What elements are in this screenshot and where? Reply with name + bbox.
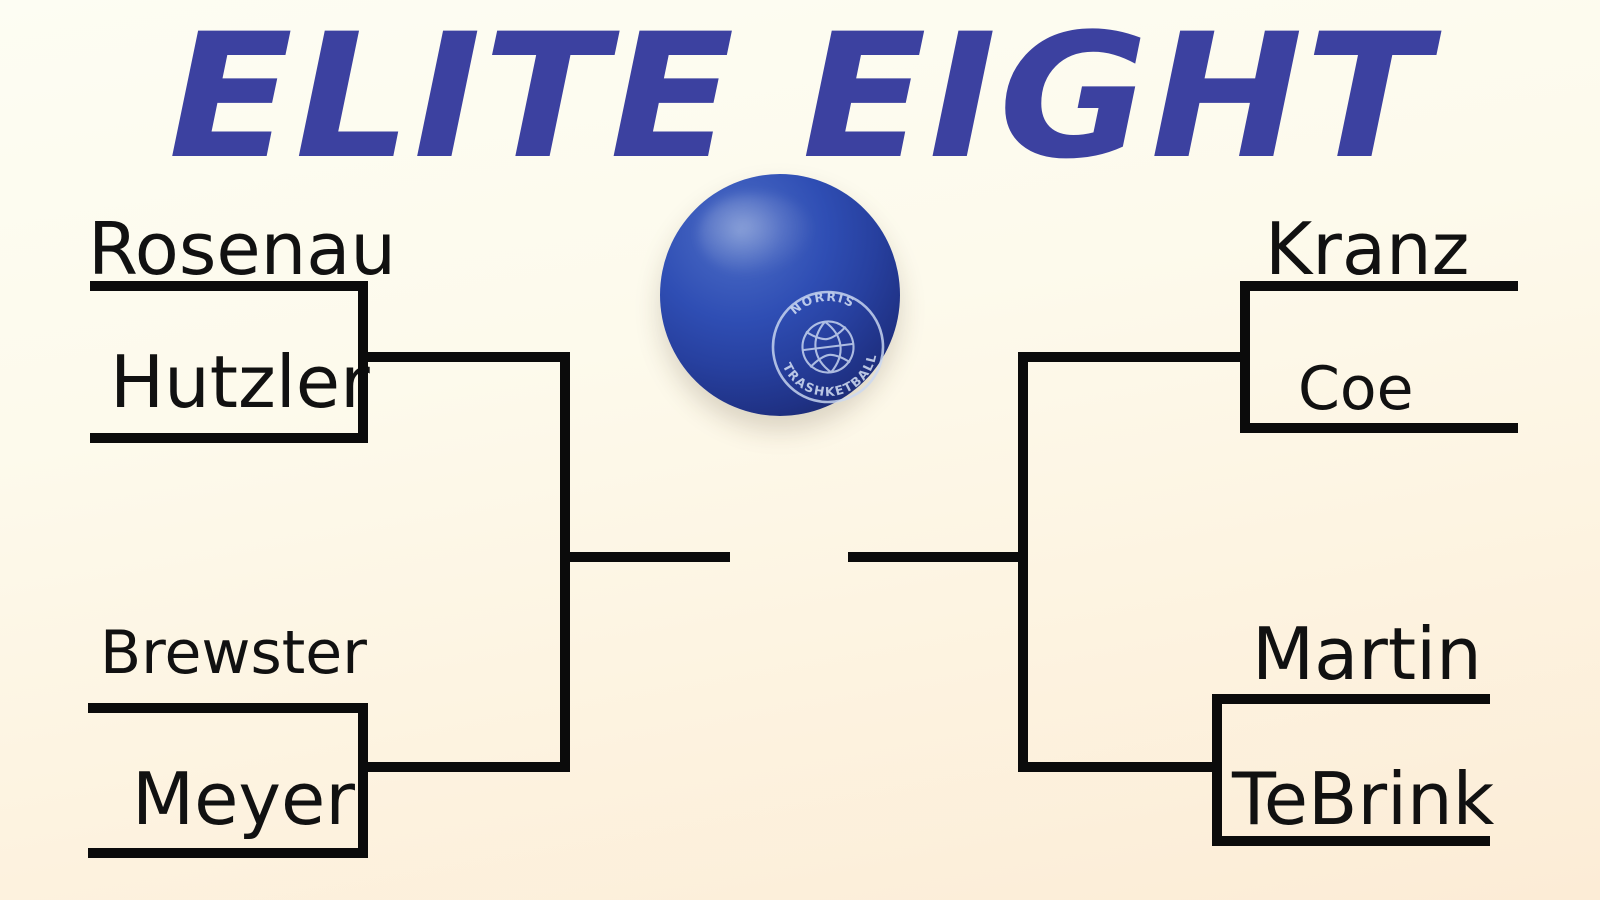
logo-top-text: NORRIS [785, 285, 859, 318]
player-slot-meyer[interactable]: Meyer [132, 762, 355, 836]
bracket-line-right-final-stub [848, 552, 1028, 562]
basketball-graphic: NORRIS TRASHKETBALL [660, 174, 900, 416]
bracket-line-left-m2-top [88, 703, 368, 713]
bracket-line-right-m2-top [1212, 694, 1490, 704]
page-title: ELITE EIGHT [0, 8, 1600, 186]
player-slot-rosenau[interactable]: Rosenau [88, 212, 396, 286]
bracket-line-left-m1-top [90, 281, 368, 291]
bracket-line-left-m2-right [358, 703, 368, 858]
logo-bottom-text: TRASHKETBALL [779, 349, 884, 404]
norris-trashketball-logo: NORRIS TRASHKETBALL [754, 273, 901, 420]
bracket-line-right-semi-bottom [1018, 762, 1218, 772]
bracket-line-right-m2-bottom [1212, 836, 1490, 846]
bracket-line-right-m1-top [1240, 281, 1518, 291]
basketball-icon [800, 319, 857, 376]
bracket-line-left-m2-bottom [88, 848, 368, 858]
player-slot-coe[interactable]: Coe [1298, 358, 1414, 420]
player-slot-hutzler[interactable]: Hutzler [110, 345, 370, 419]
bracket-poster: ELITE EIGHT [0, 0, 1600, 900]
bracket-line-right-semi-top [1018, 352, 1246, 362]
player-slot-martin[interactable]: Martin [1252, 617, 1482, 691]
bracket-line-left-m1-bottom [90, 433, 368, 443]
bracket-line-right-semi-vertical [1018, 352, 1028, 772]
bracket-line-left-semi-bottom [358, 762, 570, 772]
bracket-line-left-semi-top [358, 352, 570, 362]
player-slot-kranz[interactable]: Kranz [1265, 212, 1469, 286]
bracket-line-right-m1-bottom [1240, 423, 1518, 433]
bracket-line-left-final-stub [560, 552, 730, 562]
bracket-line-left-semi-vertical [560, 352, 570, 772]
bracket-line-left-m1-right [358, 281, 368, 443]
player-slot-tebrink[interactable]: TeBrink [1232, 762, 1494, 836]
player-slot-brewster[interactable]: Brewster [100, 622, 367, 684]
